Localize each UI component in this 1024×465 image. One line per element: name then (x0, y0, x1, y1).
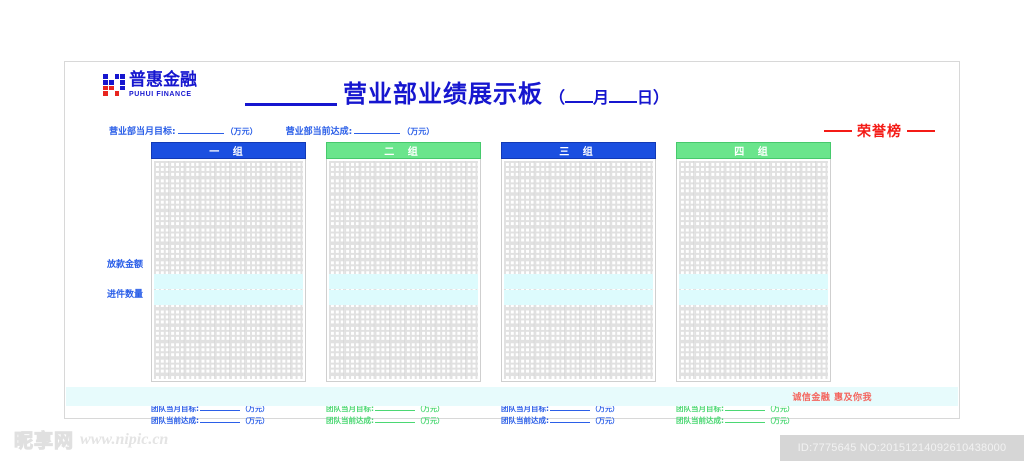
performance-board-poster: 普惠金融 PUHUI FINANCE 营业部业绩展示板 （月日） 营业部当月目标… (64, 61, 960, 419)
group-panel-3: 三 组 (501, 142, 656, 382)
group-1-achieved-label: 团队当前达成: (151, 416, 199, 425)
honor-roll-label: 荣誉榜 (857, 121, 902, 141)
highlight-band-loan-amount (679, 274, 828, 289)
group-2-achieved-row: 团队当前达成:（万元） (326, 414, 481, 427)
highlight-band-loan-amount (329, 274, 478, 289)
row-label-loan-amount: 放款金额 (107, 257, 143, 270)
logo-pixel (103, 74, 108, 79)
row-label-application-count: 进件数量 (107, 287, 143, 300)
page-title: 营业部业绩展示板 (343, 82, 543, 106)
highlight-band-loan-amount (504, 274, 653, 289)
group-chart-area-1[interactable] (151, 159, 306, 382)
branch-metrics-row: 营业部当月目标: （万元） 营业部当前达成: （万元） (109, 124, 434, 137)
group-4-achieved-blank[interactable] (725, 414, 765, 423)
title-branch-blank (245, 87, 337, 106)
group-panel-4: 四 组 (676, 142, 831, 382)
group-header-4: 四 组 (676, 142, 831, 159)
logo-pixel (103, 91, 108, 96)
asset-id-badge: ID:7775645 NO:20151214092610438000 (780, 435, 1024, 461)
branch-current-achieved-blank[interactable] (354, 124, 400, 134)
branch-current-achieved: 营业部当前达成: （万元） (286, 124, 435, 137)
logo-english-name: PUHUI FINANCE (129, 91, 197, 98)
logo-pixel (115, 86, 120, 91)
branch-monthly-target-blank[interactable] (178, 124, 224, 134)
poster-header: 普惠金融 PUHUI FINANCE 营业部业绩展示板 （月日） (65, 62, 959, 120)
logo-chinese-name: 普惠金融 (129, 72, 197, 89)
date-paren-close: ） (653, 88, 669, 107)
grid-columns (329, 161, 478, 379)
logo-pixel-mark-icon (103, 74, 125, 96)
group-chart-area-2[interactable] (326, 159, 481, 382)
honor-roll-banner: 荣誉榜 (824, 121, 935, 141)
logo-pixel (109, 91, 114, 96)
branch-current-achieved-label: 营业部当前达成: (286, 124, 353, 137)
logo-pixel (115, 80, 120, 85)
watermark-url: www.nipic.cn (80, 431, 168, 449)
bottom-slogan-bar: 诚信金融 惠及你我 (66, 387, 958, 406)
company-slogan: 诚信金融 惠及你我 (792, 390, 872, 403)
date-month-unit: 月 (593, 88, 609, 107)
branch-current-achieved-unit: （万元） (402, 126, 434, 137)
group-4-achieved-unit: （万元） (766, 417, 794, 425)
group-panel-2: 二 组 (326, 142, 481, 382)
watermark-logo-text: 昵享网 (14, 426, 74, 453)
group-2-achieved-unit: （万元） (416, 417, 444, 425)
group-3-achieved-blank[interactable] (550, 414, 590, 423)
logo-pixel (115, 91, 120, 96)
date-day-blank (609, 89, 637, 103)
logo-pixel (103, 86, 108, 91)
highlight-band-loan-amount (154, 274, 303, 289)
logo-pixel (120, 74, 125, 79)
logo-pixel (120, 80, 125, 85)
group-4-achieved-label: 团队当前达成: (676, 416, 724, 425)
group-chart-area-4[interactable] (676, 159, 831, 382)
group-4-achieved-row: 团队当前达成:（万元） (676, 414, 831, 427)
title-date-fields: （月日） (549, 89, 669, 106)
honor-right-rule-icon (907, 130, 935, 132)
grid-columns (679, 161, 828, 379)
group-header-2: 二 组 (326, 142, 481, 159)
grid-columns (154, 161, 303, 379)
highlight-band-application-count (679, 290, 828, 305)
group-2-achieved-label: 团队当前达成: (326, 416, 374, 425)
site-watermark: 昵享网 www.nipic.cn (14, 426, 168, 453)
group-1-achieved-blank[interactable] (200, 414, 240, 423)
honor-left-rule-icon (824, 130, 852, 132)
logo-pixel (109, 80, 114, 85)
group-3-achieved-row: 团队当前达成:（万元） (501, 414, 656, 427)
date-day-unit: 日 (637, 88, 653, 107)
row-label-column: 放款金额 进件数量 (107, 257, 143, 300)
logo-pixel (120, 86, 125, 91)
branch-monthly-target-label: 营业部当月目标: (109, 124, 176, 137)
group-chart-area-3[interactable] (501, 159, 656, 382)
group-3-achieved-label: 团队当前达成: (501, 416, 549, 425)
branch-monthly-target-unit: （万元） (226, 126, 258, 137)
date-paren-open: （ (549, 88, 565, 107)
highlight-band-application-count (154, 290, 303, 305)
logo-pixel (120, 91, 125, 96)
group-panels: 一 组 二 组 三 组 (151, 142, 841, 382)
highlight-band-application-count (329, 290, 478, 305)
group-panel-1: 一 组 (151, 142, 306, 382)
logo-pixel (109, 74, 114, 79)
group-2-achieved-blank[interactable] (375, 414, 415, 423)
logo-pixel (103, 80, 108, 85)
asset-id-text: ID:7775645 NO:20151214092610438000 (798, 442, 1007, 454)
group-3-achieved-unit: （万元） (591, 417, 619, 425)
group-1-achieved-row: 团队当前达成:（万元） (151, 414, 306, 427)
poster-title-row: 营业部业绩展示板 （月日） (245, 82, 805, 106)
logo-pixel (115, 74, 120, 79)
brand-logo: 普惠金融 PUHUI FINANCE (103, 72, 197, 98)
logo-text: 普惠金融 PUHUI FINANCE (129, 72, 197, 98)
date-month-blank (565, 89, 593, 103)
group-header-1: 一 组 (151, 142, 306, 159)
logo-pixel (109, 86, 114, 91)
branch-monthly-target: 营业部当月目标: （万元） (109, 124, 258, 137)
group-header-3: 三 组 (501, 142, 656, 159)
highlight-band-application-count (504, 290, 653, 305)
grid-columns (504, 161, 653, 379)
group-1-achieved-unit: （万元） (241, 417, 269, 425)
